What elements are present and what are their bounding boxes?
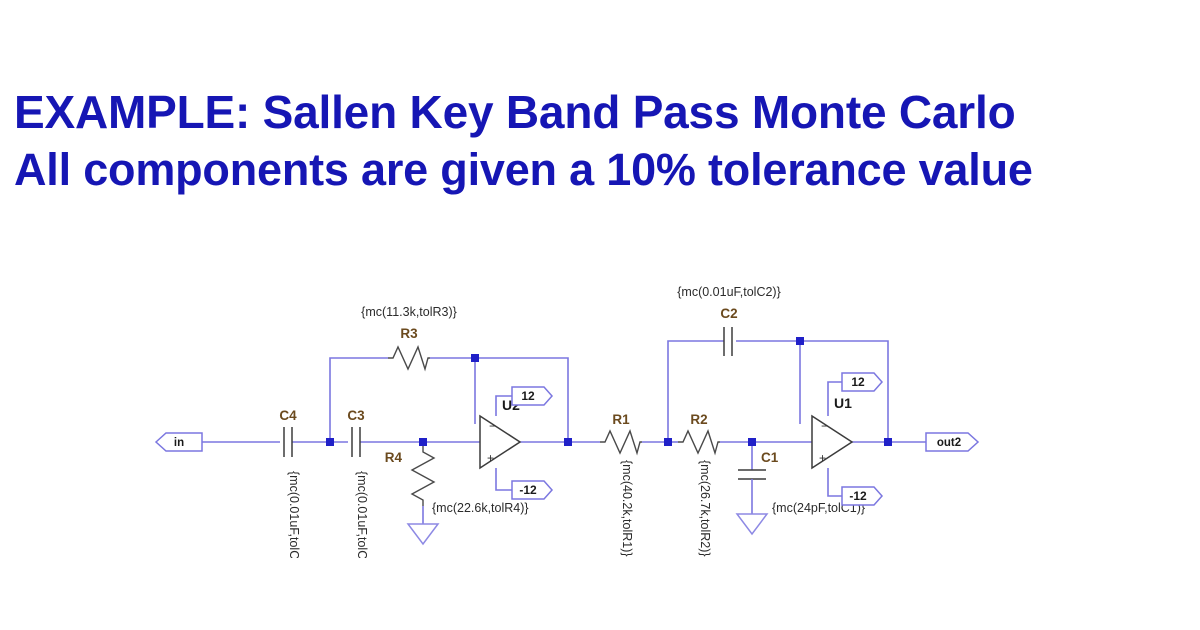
junction-nodeB [419, 438, 427, 446]
junction-nodeC [471, 354, 479, 362]
u2-rail-negative-label: -12 [519, 483, 537, 497]
wire-nodeA-up-to-r3 [330, 358, 388, 442]
port-out2[interactable]: out2 [926, 433, 978, 451]
u1-rail-negative: -12 [842, 487, 882, 505]
r4-refdes: R4 [385, 450, 403, 465]
ground-symbol-c1 [737, 514, 767, 534]
c2-value: {mc(0.01uF,tolC2)} [677, 285, 781, 299]
c3-refdes: C3 [347, 408, 365, 423]
c1-refdes: C1 [761, 450, 779, 465]
u1-rail-negative-label: -12 [849, 489, 867, 503]
junction-nodeD [564, 438, 572, 446]
u2-inverting-pin: − [489, 419, 496, 433]
title-line-2: All components are given a 10% tolerance… [14, 141, 1200, 198]
junction-nodeE [664, 438, 672, 446]
ground-symbol-r4 [408, 524, 438, 544]
circuit-schematic: in out2 C4 {mc(0.01uF,tolC4)} C3 {mc(0.0… [140, 228, 990, 558]
junction-nodeG [796, 337, 804, 345]
u1-inverting-pin: − [821, 419, 828, 433]
u2-rail-negative: -12 [512, 481, 552, 499]
junction-nodeF [748, 438, 756, 446]
c4-value: {mc(0.01uF,tolC4)} [287, 471, 301, 558]
port-out2-label: out2 [937, 437, 961, 449]
opamp-u2[interactable]: − + U2 12 -12 [480, 387, 552, 499]
r2-value: {mc(26.7k,tolR2)} [698, 460, 712, 557]
u1-rail-positive: 12 [842, 373, 882, 391]
component-c4[interactable]: C4 {mc(0.01uF,tolC4)} [279, 408, 301, 558]
component-r2[interactable]: R2 {mc(26.7k,tolR2)} [678, 412, 720, 557]
junction-nodeH [884, 438, 892, 446]
u1-noninverting-pin: + [819, 451, 826, 465]
component-r1[interactable]: R1 {mc(40.2k,tolR1)} [600, 412, 642, 557]
r2-refdes: R2 [690, 412, 707, 427]
u2-rail-positive-label: 12 [521, 389, 535, 403]
title-line-1: EXAMPLE: Sallen Key Band Pass Monte Carl… [14, 84, 1200, 141]
component-r4[interactable]: R4 {mc(22.6k,tolR4)} [385, 446, 529, 544]
r1-value: {mc(40.2k,tolR1)} [620, 460, 634, 557]
opamp-u1[interactable]: − + U1 12 -12 [812, 373, 882, 505]
component-r3[interactable]: R3 {mc(11.3k,tolR3)} [361, 305, 457, 369]
title-block: EXAMPLE: Sallen Key Band Pass Monte Carl… [14, 84, 1200, 198]
component-c3[interactable]: C3 {mc(0.01uF,tolC3)} [347, 408, 369, 558]
c2-refdes: C2 [720, 306, 737, 321]
junction-nodeA [326, 438, 334, 446]
port-in-label: in [174, 437, 184, 449]
c3-value: {mc(0.01uF,tolC3)} [355, 471, 369, 558]
r3-refdes: R3 [400, 326, 418, 341]
u2-noninverting-pin: + [487, 451, 494, 465]
slide-canvas: EXAMPLE: Sallen Key Band Pass Monte Carl… [0, 0, 1200, 630]
component-c2[interactable]: C2 {mc(0.01uF,tolC2)} [677, 285, 781, 356]
c4-refdes: C4 [279, 408, 297, 423]
u1-refdes: U1 [834, 395, 852, 411]
u2-rail-positive: 12 [512, 387, 552, 405]
r1-refdes: R1 [612, 412, 630, 427]
r3-value: {mc(11.3k,tolR3)} [361, 305, 457, 319]
u1-rail-positive-label: 12 [851, 375, 865, 389]
port-in[interactable]: in [156, 433, 202, 451]
r4-value: {mc(22.6k,tolR4)} [432, 501, 529, 515]
